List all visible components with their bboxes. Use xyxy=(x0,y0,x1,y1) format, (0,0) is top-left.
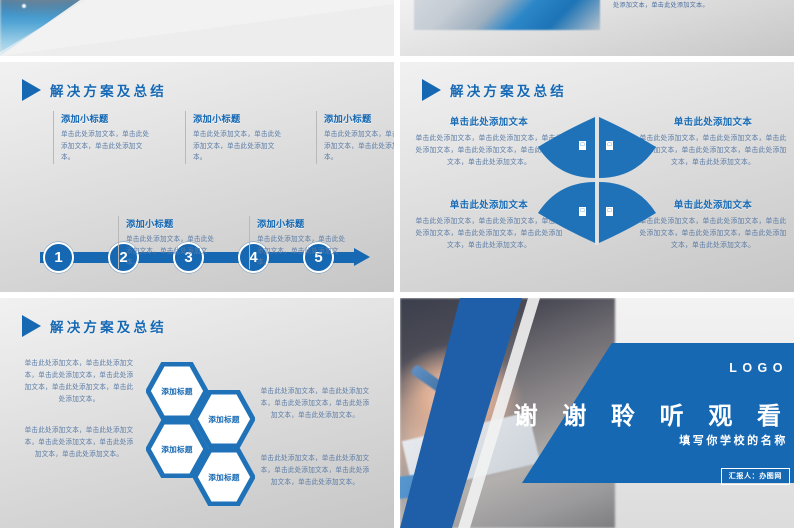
section-heading: 解决方案及总结 xyxy=(22,79,167,101)
slide-thank-you[interactable]: LOGO 谢 谢 聆 听 观 看 填写你学校的名称 汇报人：办图网 xyxy=(400,298,794,528)
slide-contact-sheet: 添加文本，单击此处添加文本，单击此处添加文本，单击此处添加文本，单击此处添加文本… xyxy=(0,0,800,528)
presenter-badge: 汇报人：办图网 xyxy=(721,468,790,485)
document-icon: □ xyxy=(606,207,613,216)
slide-photo-laptop xyxy=(414,0,600,30)
slide-hexagons[interactable]: 解决方案及总结 单击此处添加文本，单击此处添加文本，单击此处添加文本，单击此处添… xyxy=(0,298,394,528)
logo-text: LOGO xyxy=(729,361,788,375)
section-heading: 解决方案及总结 xyxy=(22,315,167,337)
quadrant-bottom-right[interactable]: 单击此处添加文本 单击此处添加文本，单击此处添加文本，单击此处添加文本，单击此处… xyxy=(638,197,788,252)
timeline-callout-3[interactable]: 添加小标题 单击此处添加文本，单击此处添加文本，单击此处添加文本。 xyxy=(185,111,283,164)
quadrant-body: 单击此处添加文本，单击此处添加文本，单击此处添加文本，单击此处添加文本，单击此处… xyxy=(638,216,788,252)
thank-you-subtitle: 填写你学校的名称 xyxy=(679,432,788,448)
triangle-right-icon xyxy=(422,79,441,101)
timeline-callout-4[interactable]: 添加小标题 单击此处添加文本，单击此处添加文本，单击此处添加文本。 xyxy=(249,216,347,269)
timeline-callout-5[interactable]: 添加小标题 单击此处添加文本，单击此处添加文本，单击此处添加文本。 xyxy=(316,111,394,164)
diamond-center-graphic[interactable]: □ □ □ □ xyxy=(538,115,656,245)
callout-heading: 添加小标题 xyxy=(324,111,394,125)
callout-body: 单击此处添加文本，单击此处添加文本，单击此处添加文本。 xyxy=(126,234,216,269)
slide-timeline[interactable]: 解决方案及总结 添加小标题 单击此处添加文本，单击此处添加文本，单击此处添加文本… xyxy=(0,62,394,292)
timeline-callout-1[interactable]: 添加小标题 单击此处添加文本，单击此处添加文本，单击此处添加文本。 xyxy=(53,111,151,164)
callout-heading: 添加小标题 xyxy=(193,111,283,125)
callout-body: 单击此处添加文本，单击此处添加文本，单击此处添加文本。 xyxy=(257,234,347,269)
diagonal-white-overlay xyxy=(0,0,394,56)
page-title: 解决方案及总结 xyxy=(50,316,167,336)
timeline-callout-2[interactable]: 添加小标题 单击此处添加文本，单击此处添加文本，单击此处添加文本。 xyxy=(118,216,216,269)
hex-text-left-bottom: 单击此处添加文本，单击此处添加文本，单击此处添加文本，单击此处添加文本，单击此处… xyxy=(22,425,136,461)
callout-heading: 添加小标题 xyxy=(126,216,216,230)
quadrant-heading: 单击此处添加文本 xyxy=(638,114,788,128)
section-heading: 解决方案及总结 xyxy=(422,79,567,101)
slide-top-right-partial[interactable]: 添加文本，单击此处添加文本，单击此处添加文本，单击此处添加文本，单击此处添加文本… xyxy=(400,0,794,56)
person-icon: □ xyxy=(606,141,613,150)
hex-text-left-top: 单击此处添加文本，单击此处添加文本，单击此处添加文本，单击此处添加文本，单击此处… xyxy=(22,358,136,406)
person-icon: □ xyxy=(579,141,586,150)
node-number: 1 xyxy=(54,249,62,266)
slide-top-left-partial[interactable] xyxy=(0,0,394,56)
hexagon-4[interactable]: 添加标题 xyxy=(193,448,255,506)
partial-body-text: 添加文本，单击此处添加文本，单击此处添加文本，单击此处添加文本，单击此处添加文本… xyxy=(613,0,783,11)
thank-you-title: 谢 谢 聆 听 观 看 xyxy=(514,396,790,431)
triangle-right-icon xyxy=(22,79,41,101)
callout-heading: 添加小标题 xyxy=(61,111,151,125)
triangle-right-icon xyxy=(22,315,41,337)
callout-body: 单击此处添加文本，单击此处添加文本，单击此处添加文本。 xyxy=(324,129,394,164)
callout-body: 单击此处添加文本，单击此处添加文本，单击此处添加文本。 xyxy=(61,129,151,164)
quadrant-top-right[interactable]: 单击此处添加文本 单击此处添加文本，单击此处添加文本，单击此处添加文本，单击此处… xyxy=(638,114,788,169)
hex-text-right-top: 单击此处添加文本，单击此处添加文本，单击此处添加文本，单击此处添加文本，单击此处… xyxy=(258,386,372,422)
quadrant-heading: 单击此处添加文本 xyxy=(638,197,788,211)
document-icon: □ xyxy=(579,207,586,216)
quadrant-body: 单击此处添加文本，单击此处添加文本，单击此处添加文本，单击此处添加文本，单击此处… xyxy=(638,133,788,169)
callout-heading: 添加小标题 xyxy=(257,216,347,230)
page-title: 解决方案及总结 xyxy=(450,80,567,100)
timeline-arrow-head-icon xyxy=(354,248,370,266)
timeline-node-1[interactable]: 1 xyxy=(43,242,74,273)
hex-text-right-bottom: 单击此处添加文本，单击此处添加文本，单击此处添加文本，单击此处添加文本，单击此处… xyxy=(258,453,372,489)
callout-body: 单击此处添加文本，单击此处添加文本，单击此处添加文本。 xyxy=(193,129,283,164)
page-title: 解决方案及总结 xyxy=(50,80,167,100)
slide-diamond-quadrants[interactable]: 解决方案及总结 单击此处添加文本 单击此处添加文本，单击此处添加文本，单击此处添… xyxy=(400,62,794,292)
